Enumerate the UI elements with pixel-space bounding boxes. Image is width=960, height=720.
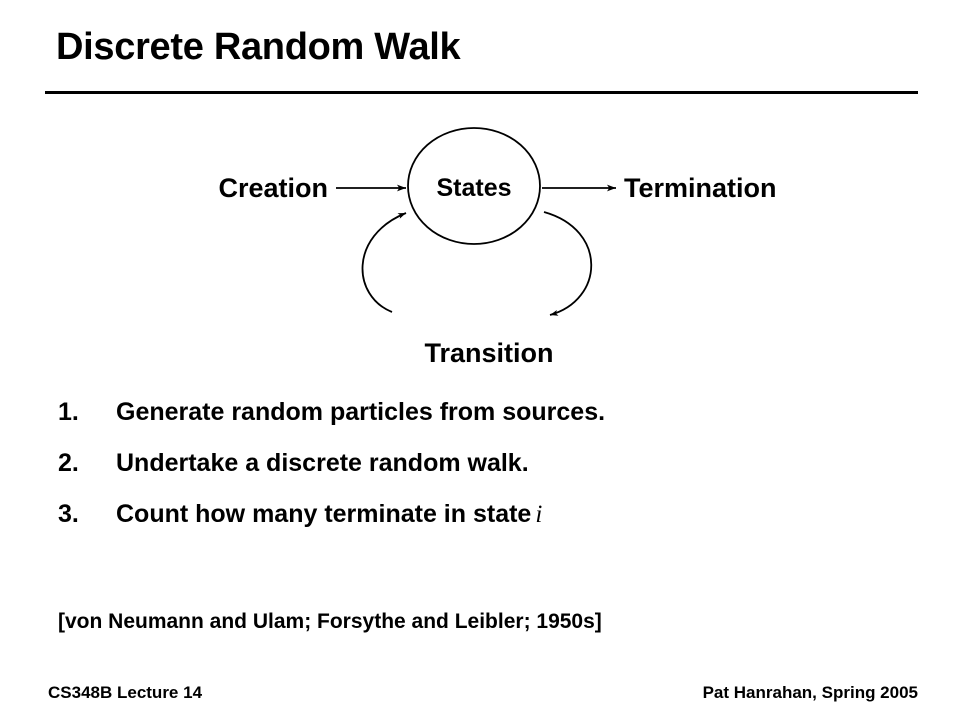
list-item-number: 3. xyxy=(58,500,116,529)
page-title: Discrete Random Walk xyxy=(56,26,460,69)
steps-list: 1. Generate random particles from source… xyxy=(58,398,908,551)
list-item-text: Undertake a discrete random walk. xyxy=(116,449,529,478)
list-item-number: 1. xyxy=(58,398,116,427)
random-walk-diagram: Creation States Termination Transition xyxy=(0,100,960,390)
slide-footer: CS348B Lecture 14 Pat Hanrahan, Spring 2… xyxy=(48,683,918,703)
diagram-label-transition: Transition xyxy=(424,338,553,368)
citation-text: [von Neumann and Ulam; Forsythe and Leib… xyxy=(58,610,602,634)
transition-arc-inbound xyxy=(363,213,406,312)
footer-author-label: Pat Hanrahan, Spring 2005 xyxy=(703,683,918,703)
diagram-label-termination: Termination xyxy=(624,173,777,203)
list-item: 1. Generate random particles from source… xyxy=(58,398,908,427)
list-item: 2. Undertake a discrete random walk. xyxy=(58,449,908,478)
title-divider xyxy=(45,91,918,94)
list-item-number: 2. xyxy=(58,449,116,478)
list-item-text: Count how many terminate in state xyxy=(116,500,531,529)
slide-canvas: Discrete Random Walk Creati xyxy=(0,0,960,720)
transition-arc-outbound xyxy=(544,212,591,315)
footer-course-label: CS348B Lecture 14 xyxy=(48,683,202,703)
diagram-label-creation: Creation xyxy=(218,173,328,203)
list-item: 3. Count how many terminate in state i xyxy=(58,500,908,529)
math-variable-i: i xyxy=(531,501,542,529)
diagram-label-states: States xyxy=(436,174,511,202)
list-item-text: Generate random particles from sources. xyxy=(116,398,605,427)
